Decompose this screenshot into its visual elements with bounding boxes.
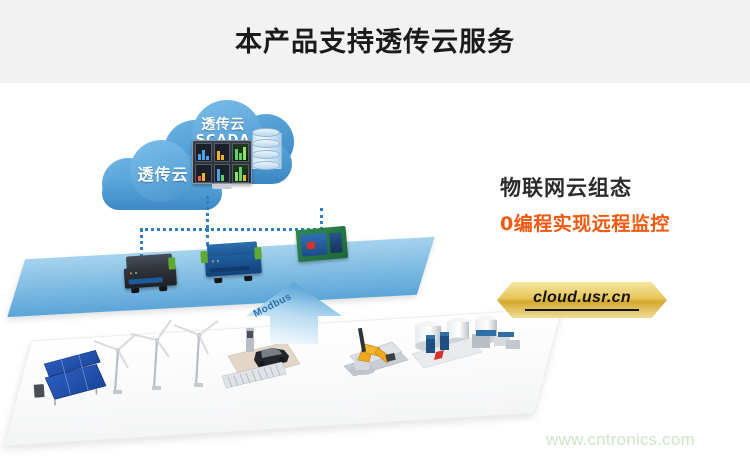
database-icon [252, 128, 280, 172]
scada-panel [214, 143, 231, 162]
scada-monitor-icon [192, 140, 252, 184]
device-industrial-router-gateway[interactable] [204, 241, 262, 281]
database-disk [252, 128, 280, 137]
connector-branch-left [140, 228, 208, 231]
database-disk [252, 139, 280, 148]
right-subline: 0编程实现远程监控 [500, 212, 670, 236]
badge-underline [525, 309, 639, 311]
cloud-url-badge[interactable]: cloud.usr.cn [497, 282, 667, 318]
device-body [205, 253, 262, 277]
connector-drop-device-1 [140, 228, 143, 258]
connector-drop-device-2 [206, 228, 209, 246]
slide-canvas: 本产品支持透传云服务 透传云 SCADA [0, 0, 750, 459]
scada-panel [232, 143, 249, 162]
database-disk [252, 150, 280, 159]
right-headline: 物联网云组态 [500, 175, 632, 201]
site-watermark: www.cntronics.com [546, 430, 695, 450]
connector-drop-device-3 [320, 208, 323, 230]
page-title: 本产品支持透传云服务 [0, 25, 750, 61]
scada-panel [195, 143, 212, 162]
device-wifi-module-board[interactable] [296, 226, 349, 264]
module-label [300, 233, 328, 257]
module-chip [329, 232, 343, 253]
module-logo [307, 242, 316, 250]
monitor-stand [212, 184, 232, 189]
scada-panel [214, 164, 231, 183]
badge-url-text: cloud.usr.cn [497, 289, 667, 307]
database-disk [252, 161, 280, 170]
scada-panel [232, 164, 249, 183]
device-serial-server-gateway[interactable] [123, 253, 177, 291]
connector-trunk-vertical [206, 196, 209, 228]
scada-panel [195, 164, 212, 183]
